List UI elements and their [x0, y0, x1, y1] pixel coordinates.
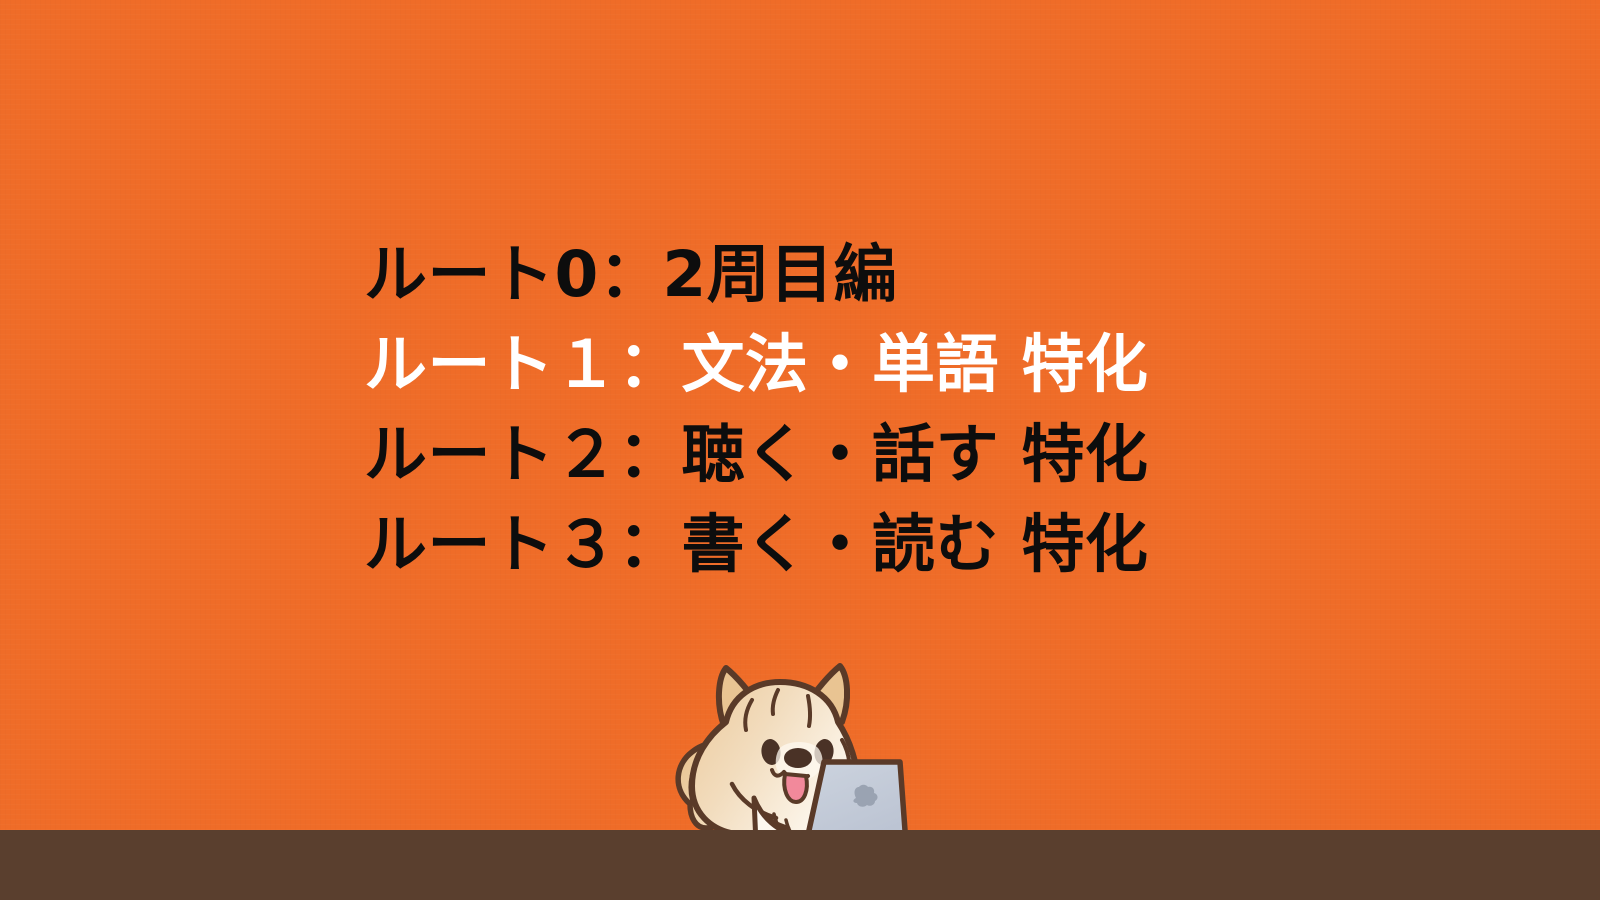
- dog-nose: [784, 748, 812, 768]
- route-line-2: ルート２：聴く・話す 特化: [364, 410, 1464, 500]
- route-line-3: ルート３：書く・読む 特化: [364, 500, 1464, 590]
- route-list: ルート0：2周目編 ルート１：文法・単語 特化 ルート２：聴く・話す 特化 ルー…: [364, 230, 1464, 590]
- laptop-lid: [806, 762, 906, 844]
- dog-tongue: [784, 774, 807, 802]
- laptop-base: [744, 844, 920, 852]
- dog-illustration: [628, 648, 928, 860]
- route-line-1: ルート１：文法・単語 特化: [364, 320, 1464, 410]
- route-line-0: ルート0：2周目編: [364, 230, 1464, 320]
- slide-canvas: ルート0：2周目編 ルート１：文法・単語 特化 ルート２：聴く・話す 特化 ルー…: [0, 0, 1600, 900]
